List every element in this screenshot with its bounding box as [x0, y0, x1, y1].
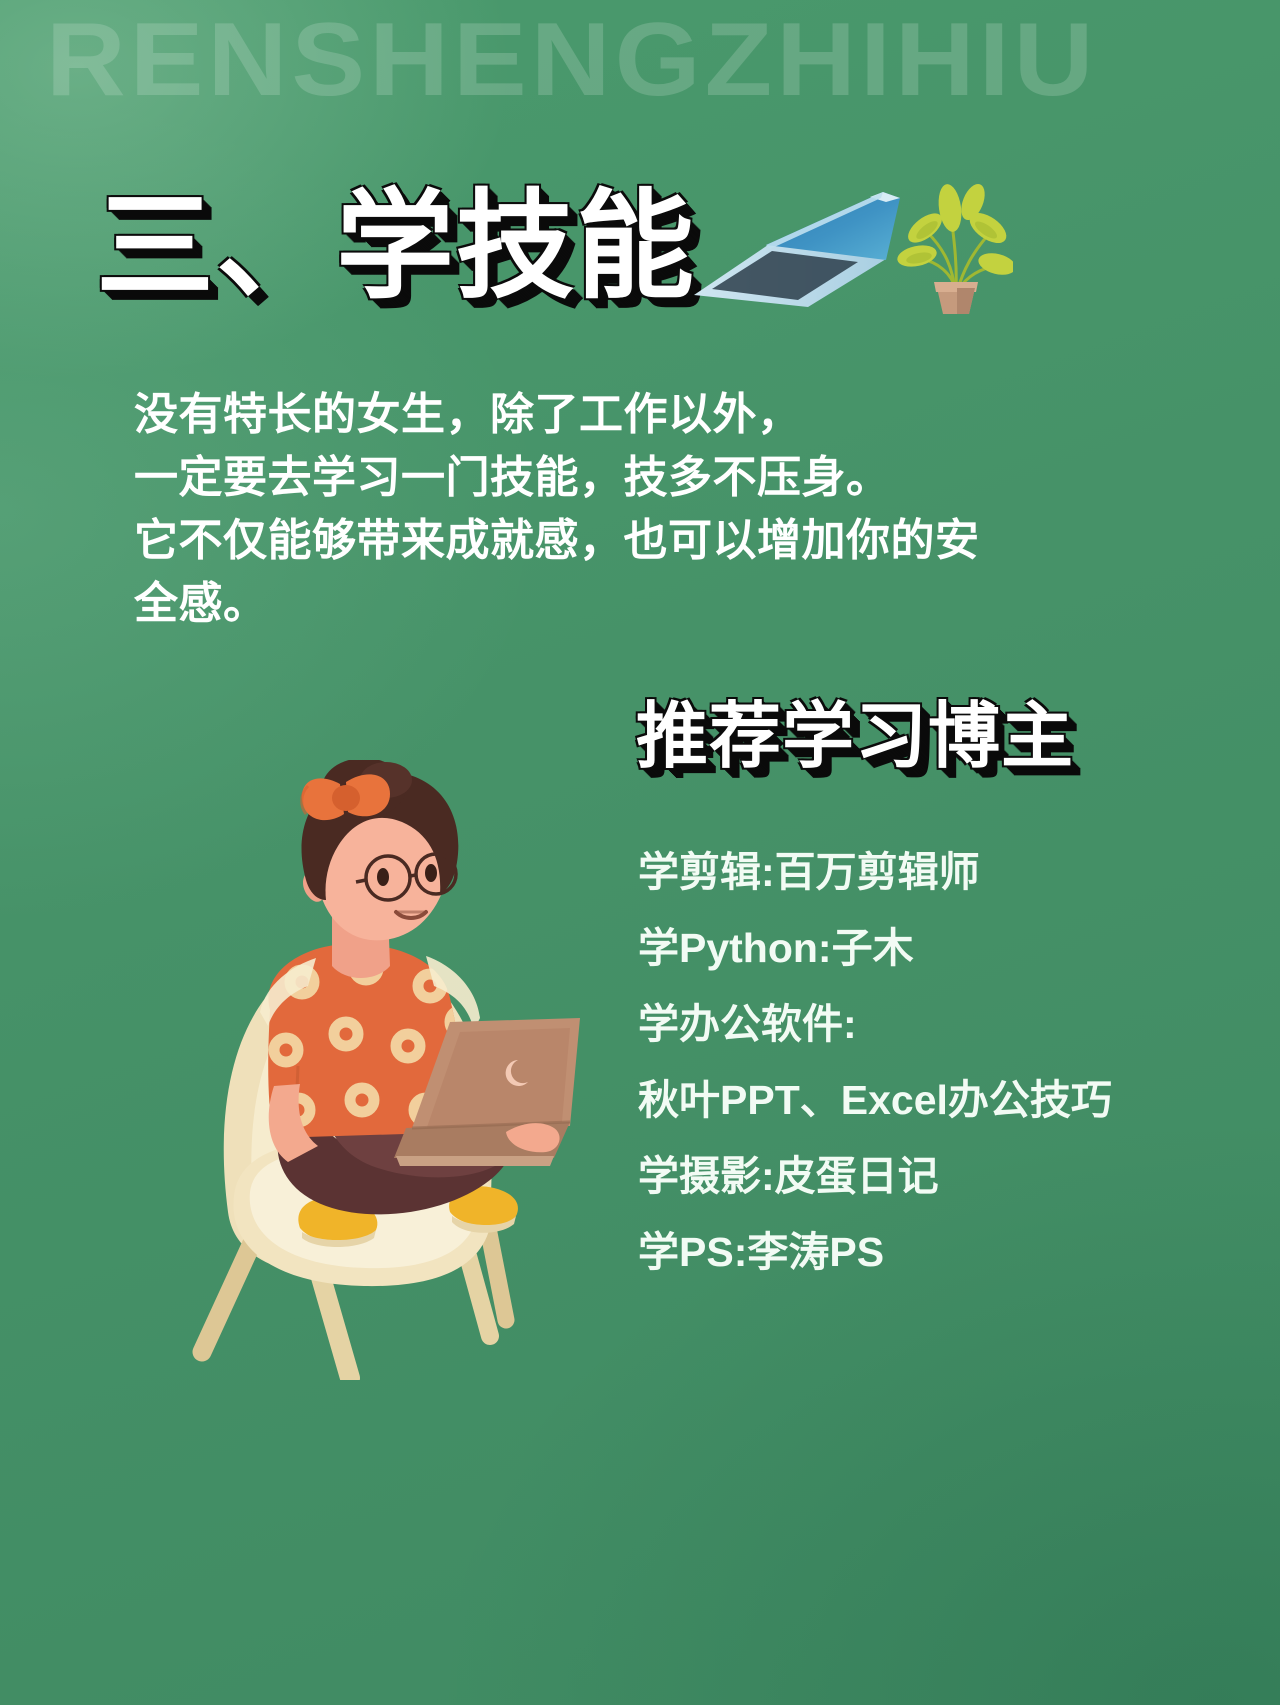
laptop-icon — [690, 190, 905, 310]
list-item: 学办公软件: — [638, 1004, 1158, 1045]
list-item: 学剪辑:百万剪辑师 — [638, 852, 1158, 893]
woman-with-laptop-illustration — [150, 760, 610, 1380]
body-line-1: 没有特长的女生，除了工作以外， — [134, 384, 1014, 447]
watermark-text: RENSHENGZHIHIU — [46, 8, 1098, 112]
list-item: 秋叶PPT、Excel办公技巧 — [638, 1080, 1158, 1121]
section-heading: 推荐学习博主 — [636, 700, 1074, 776]
body-line-4: 全感。 — [134, 573, 1014, 636]
poster-canvas: RENSHENGZHIHIU 三、学技能 — [0, 0, 1280, 1705]
body-line-2: 一定要去学习一门技能，技多不压身。 — [134, 447, 1014, 510]
list-item: 学摄影:皮蛋日记 — [638, 1156, 1158, 1197]
body-paragraph: 没有特长的女生，除了工作以外， 一定要去学习一门技能，技多不压身。 它不仅能够带… — [134, 384, 1014, 636]
page-title: 三、学技能 — [96, 186, 696, 310]
list-item: 学Python:子木 — [638, 928, 1158, 969]
body-line-3: 它不仅能够带来成就感，也可以增加你的安 — [134, 510, 1014, 573]
potted-plant-icon — [893, 172, 1013, 314]
list-item: 学PS:李涛PS — [638, 1232, 1158, 1273]
recommended-blogger-list: 学剪辑:百万剪辑师 学Python:子木 学办公软件: 秋叶PPT、Excel办… — [638, 852, 1158, 1308]
